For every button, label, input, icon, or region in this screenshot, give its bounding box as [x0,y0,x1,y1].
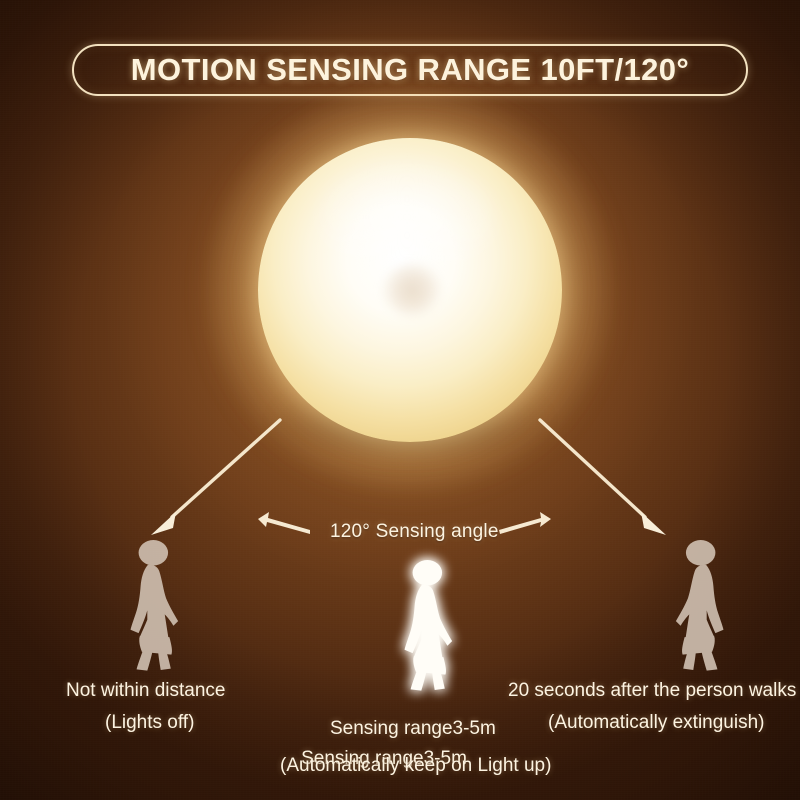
center-zone-line2: (Automatically keep on Light up) [280,755,551,777]
left-zone-line2: (Lights off) [105,712,194,734]
right-zone-line1: 20 seconds after the person walks [508,680,796,702]
sensing-angle-label: 120° Sensing angle [330,521,499,543]
walking-person-icon-right [676,540,724,671]
product-marketing-graphic: MOTION SENSING RANGE 10FT/120° [0,0,800,800]
arrow-right-icon [499,512,551,534]
arrow-left-icon [258,512,310,534]
arrow-down-right-icon [540,420,666,535]
walking-person-icon-left [131,540,179,671]
walking-person-icon-center [405,560,453,691]
right-zone-line2: (Automatically extinguish) [548,712,764,734]
center-zone-line1-text: Sensing range3-5m [330,718,496,740]
left-zone-line1: Not within distance [66,680,225,702]
